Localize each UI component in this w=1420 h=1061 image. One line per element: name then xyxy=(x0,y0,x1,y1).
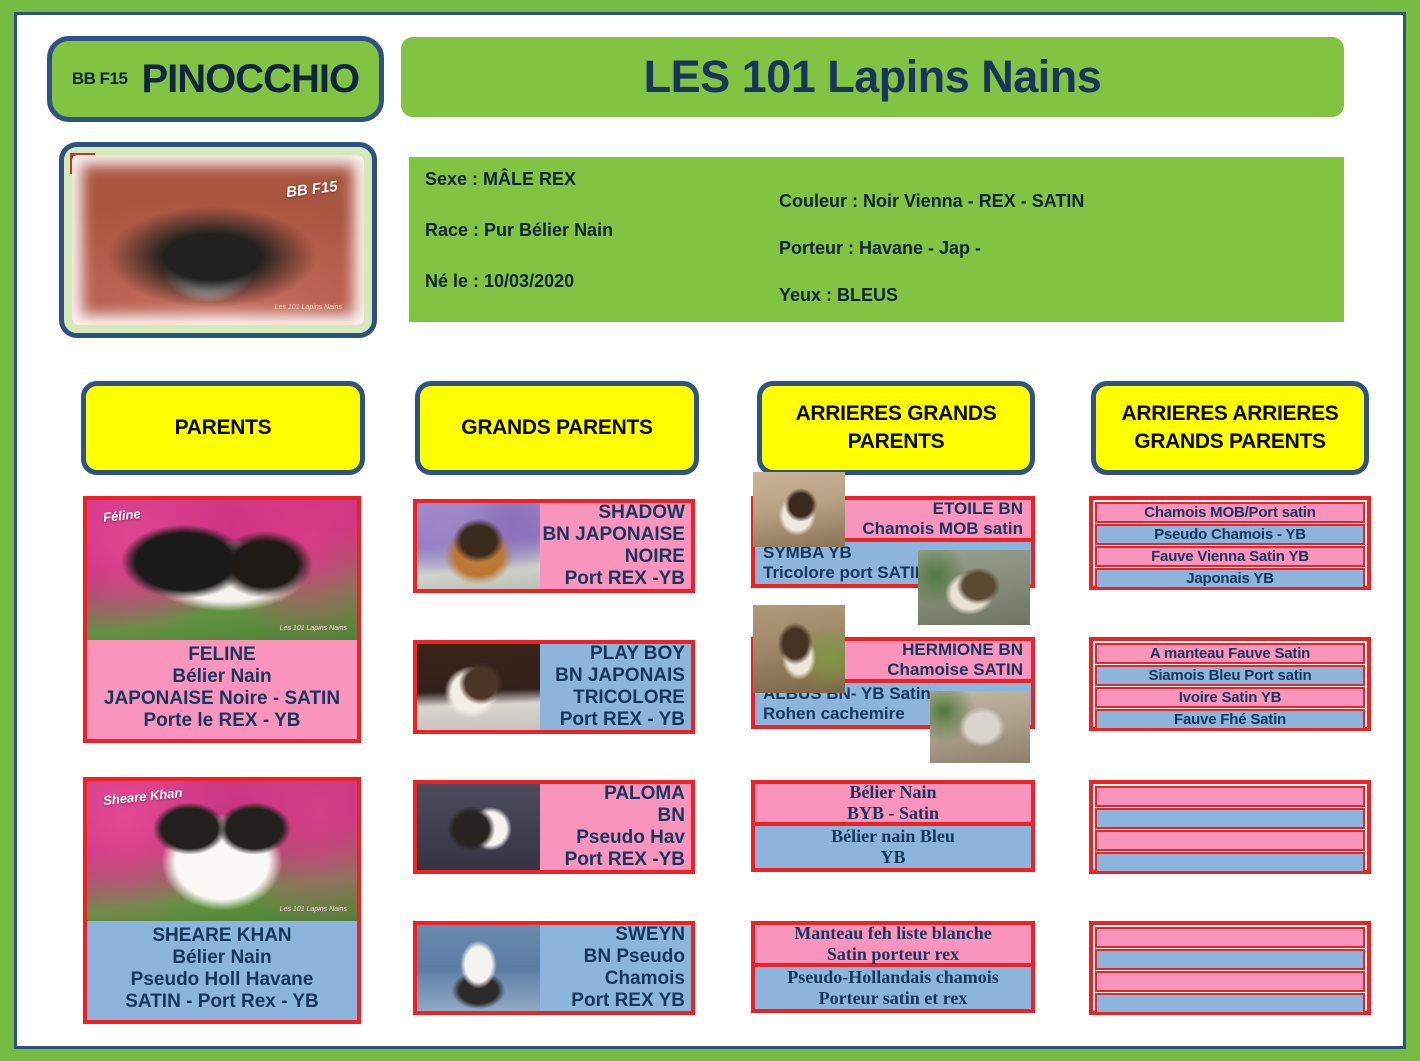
gg-line: YB xyxy=(880,847,905,868)
column-header-parents: PARENTS xyxy=(81,381,365,475)
great-grandparent-photo-albus xyxy=(753,605,845,693)
ggg-row: Chamois MOB/Port satin xyxy=(1095,502,1365,523)
ggg-row xyxy=(1095,786,1365,807)
gg-line: Bélier nain Bleu xyxy=(831,826,955,847)
gg-line: Manteau feh liste blanche xyxy=(794,923,992,944)
gg-line: Pseudo-Hollandais chamois xyxy=(787,967,999,988)
grandparent-line: NOIRE xyxy=(542,546,685,568)
ggg-row xyxy=(1095,949,1365,970)
column-header-great-grandparents: ARRIERES GRANDS PARENTS xyxy=(757,381,1035,475)
great-great-grandparent-group-1: Chamois MOB/Port satin Pseudo Chamois - … xyxy=(1089,496,1371,590)
subject-info-panel: Sexe : MÂLE REX Race : Pur Bélier Nain N… xyxy=(409,157,1344,322)
info-porteur: Porteur : Havane - Jap - xyxy=(779,238,1084,259)
ggg-row: A manteau Fauve Satin xyxy=(1095,643,1365,664)
parent-label-feline: FELINE Bélier Nain JAPONAISE Noire - SAT… xyxy=(87,640,357,739)
parent-photo-feline: Féline Les 101 Lapins Nains xyxy=(87,500,357,640)
parent-photo-credit: Les 101 Lapins Nains xyxy=(280,906,347,913)
grandparent-line: BN Pseudo xyxy=(542,946,685,968)
subject-code: BB F15 xyxy=(72,69,128,89)
gg-line: BYB - Satin xyxy=(847,803,939,824)
parent-line: Pseudo Holl Havane xyxy=(89,969,355,991)
parent-line: Bélier Nain xyxy=(89,666,355,688)
grandparent-line: Port REX -YB xyxy=(542,568,685,590)
grandparent-line: Port REX - YB xyxy=(542,709,685,731)
page-title: LES 101 Lapins Nains xyxy=(644,51,1102,103)
gg-line: Porteur satin et rex xyxy=(819,988,968,1009)
grandparent-line: Port REX -YB xyxy=(542,849,685,871)
subject-name-plate: BB F15 PINOCCHIO xyxy=(47,36,384,122)
grandparent-line: BN xyxy=(542,805,685,827)
grandparent-line: TRICOLORE xyxy=(542,687,685,709)
subject-name: PINOCCHIO xyxy=(141,57,359,102)
great-grandparent-photo-symba xyxy=(753,472,845,547)
grandparent-card-sweyn: SWEYN BN Pseudo Chamois Port REX YB xyxy=(413,921,695,1015)
subject-info-left-column: Sexe : MÂLE REX Race : Pur Bélier Nain N… xyxy=(425,169,613,322)
parent-label-sheare-khan: SHEARE KHAN Bélier Nain Pseudo Holl Hava… xyxy=(87,921,357,1020)
gg-line: Chamois MOB satin xyxy=(862,519,1023,539)
gg-line: Bélier Nain xyxy=(849,782,936,803)
grandparent-label-play-boy: PLAY BOY BN JAPONAIS TRICOLORE Port REX … xyxy=(540,644,691,730)
great-grandparent-label-belier-nain-bleu: Bélier nain Bleu YB xyxy=(755,826,1031,868)
grandparent-line: BN JAPONAISE xyxy=(542,524,685,546)
parent-card-feline: Féline Les 101 Lapins Nains FELINE Bélie… xyxy=(83,496,361,743)
subject-photo-frame: BB F15 Les 101 Lapins Nains xyxy=(59,142,377,338)
ggg-row xyxy=(1095,852,1365,873)
subject-photo-credit: Les 101 Lapins Nains xyxy=(275,304,342,311)
grandparent-line: Port REX YB xyxy=(542,990,685,1012)
parent-line: SHEARE KHAN xyxy=(89,925,355,947)
grandparent-label-paloma: PALOMA BN Pseudo Hav Port REX -YB xyxy=(540,784,691,870)
ggg-row: Pseudo Chamois - YB xyxy=(1095,524,1365,545)
column-header-grandparents-label: GRANDS PARENTS xyxy=(461,414,652,442)
column-header-great-great-grandparents: ARRIERES ARRIERES GRANDS PARENTS xyxy=(1091,381,1369,475)
parent-line: FELINE xyxy=(89,644,355,666)
great-grandparent-label-pseudo-hollandais: Pseudo-Hollandais chamois Porteur satin … xyxy=(755,967,1031,1009)
ggg-row xyxy=(1095,927,1365,948)
column-header-grandparents: GRANDS PARENTS xyxy=(415,381,699,475)
ggg-row: Fauve Fhé Satin xyxy=(1095,709,1365,730)
parent-photo-sheare-khan: Sheare Khan Les 101 Lapins Nains xyxy=(87,781,357,921)
great-grandparent-label-belier-nain-byb: Bélier Nain BYB - Satin xyxy=(755,784,1031,826)
grandparent-photo-shadow xyxy=(417,503,540,589)
great-great-grandparent-group-2: A manteau Fauve Satin Siamois Bleu Port … xyxy=(1089,637,1371,731)
great-great-grandparent-group-4 xyxy=(1089,921,1371,1015)
parent-photo-watermark: Féline xyxy=(102,506,141,525)
grandparent-line: Chamois xyxy=(542,968,685,990)
grandparent-line: BN JAPONAIS xyxy=(542,665,685,687)
subject-photo-watermark: BB F15 xyxy=(285,178,338,201)
gg-line: Chamoise SATIN xyxy=(887,660,1023,680)
parent-photo-credit: Les 101 Lapins Nains xyxy=(280,625,347,632)
grandparent-photo-play-boy xyxy=(417,644,540,730)
grandparent-photo-paloma xyxy=(417,784,540,870)
gg-line: Tricolore port SATIN xyxy=(763,563,927,583)
info-yeux: Yeux : BLEUS xyxy=(779,285,1084,306)
info-birthdate: Né le : 10/03/2020 xyxy=(425,271,613,292)
info-sexe: Sexe : MÂLE REX xyxy=(425,169,613,190)
great-grandparent-photo-etoile xyxy=(918,550,1030,625)
pedigree-page: BB F15 PINOCCHIO LES 101 Lapins Nains BB… xyxy=(0,0,1420,1061)
subject-info-right-column: Couleur : Noir Vienna - REX - SATIN Port… xyxy=(779,191,1084,332)
great-grandparent-card-manteau-feh: Manteau feh liste blanche Satin porteur … xyxy=(751,921,1035,1013)
grandparent-label-sweyn: SWEYN BN Pseudo Chamois Port REX YB xyxy=(540,925,691,1011)
parent-photo-watermark: Sheare Khan xyxy=(102,785,183,808)
grandparent-line: PALOMA xyxy=(542,783,685,805)
info-race: Race : Pur Bélier Nain xyxy=(425,220,613,241)
pedigree-sheet: BB F15 PINOCCHIO LES 101 Lapins Nains BB… xyxy=(14,12,1406,1049)
great-grandparent-card-belier-nain: Bélier Nain BYB - Satin Bélier nain Bleu… xyxy=(751,780,1035,872)
ggg-row xyxy=(1095,808,1365,829)
ggg-row xyxy=(1095,830,1365,851)
ggg-row xyxy=(1095,971,1365,992)
parent-line: JAPONAISE Noire - SATIN xyxy=(89,688,355,710)
ggg-row: Siamois Bleu Port satin xyxy=(1095,665,1365,686)
page-title-banner: LES 101 Lapins Nains xyxy=(401,37,1344,117)
parent-line: Bélier Nain xyxy=(89,947,355,969)
subject-photo: BB F15 Les 101 Lapins Nains xyxy=(72,155,364,325)
parent-card-sheare-khan: Sheare Khan Les 101 Lapins Nains SHEARE … xyxy=(83,777,361,1024)
grandparent-line: Pseudo Hav xyxy=(542,827,685,849)
great-grandparent-photo-hermione xyxy=(930,691,1030,763)
gg-line: ETOILE BN xyxy=(933,499,1023,519)
grandparent-line: SHADOW xyxy=(542,502,685,524)
grandparent-card-shadow: SHADOW BN JAPONAISE NOIRE Port REX -YB xyxy=(413,499,695,593)
grandparent-photo-sweyn xyxy=(417,925,540,1011)
parent-line: Porte le REX - YB xyxy=(89,710,355,732)
column-header-great-great-grandparents-label: ARRIERES ARRIERES GRANDS PARENTS xyxy=(1104,400,1356,457)
ggg-row xyxy=(1095,993,1365,1014)
grandparent-card-play-boy: PLAY BOY BN JAPONAIS TRICOLORE Port REX … xyxy=(413,640,695,734)
column-header-parents-label: PARENTS xyxy=(175,414,272,442)
grandparent-card-paloma: PALOMA BN Pseudo Hav Port REX -YB xyxy=(413,780,695,874)
great-grandparent-label-manteau-feh: Manteau feh liste blanche Satin porteur … xyxy=(755,925,1031,967)
ggg-row: Fauve Vienna Satin YB xyxy=(1095,546,1365,567)
gg-line: HERMIONE BN xyxy=(902,640,1023,660)
gg-line: Satin porteur rex xyxy=(827,944,959,965)
great-great-grandparent-group-3 xyxy=(1089,780,1371,874)
ggg-row: Japonais YB xyxy=(1095,568,1365,589)
grandparent-label-shadow: SHADOW BN JAPONAISE NOIRE Port REX -YB xyxy=(540,503,691,589)
gg-line: Rohen cachemire xyxy=(763,704,905,724)
info-couleur: Couleur : Noir Vienna - REX - SATIN xyxy=(779,191,1084,212)
parent-line: SATIN - Port Rex - YB xyxy=(89,991,355,1013)
grandparent-line: SWEYN xyxy=(542,924,685,946)
ggg-row: Ivoire Satin YB xyxy=(1095,687,1365,708)
column-header-great-grandparents-label: ARRIERES GRANDS PARENTS xyxy=(770,400,1022,457)
grandparent-line: PLAY BOY xyxy=(542,643,685,665)
